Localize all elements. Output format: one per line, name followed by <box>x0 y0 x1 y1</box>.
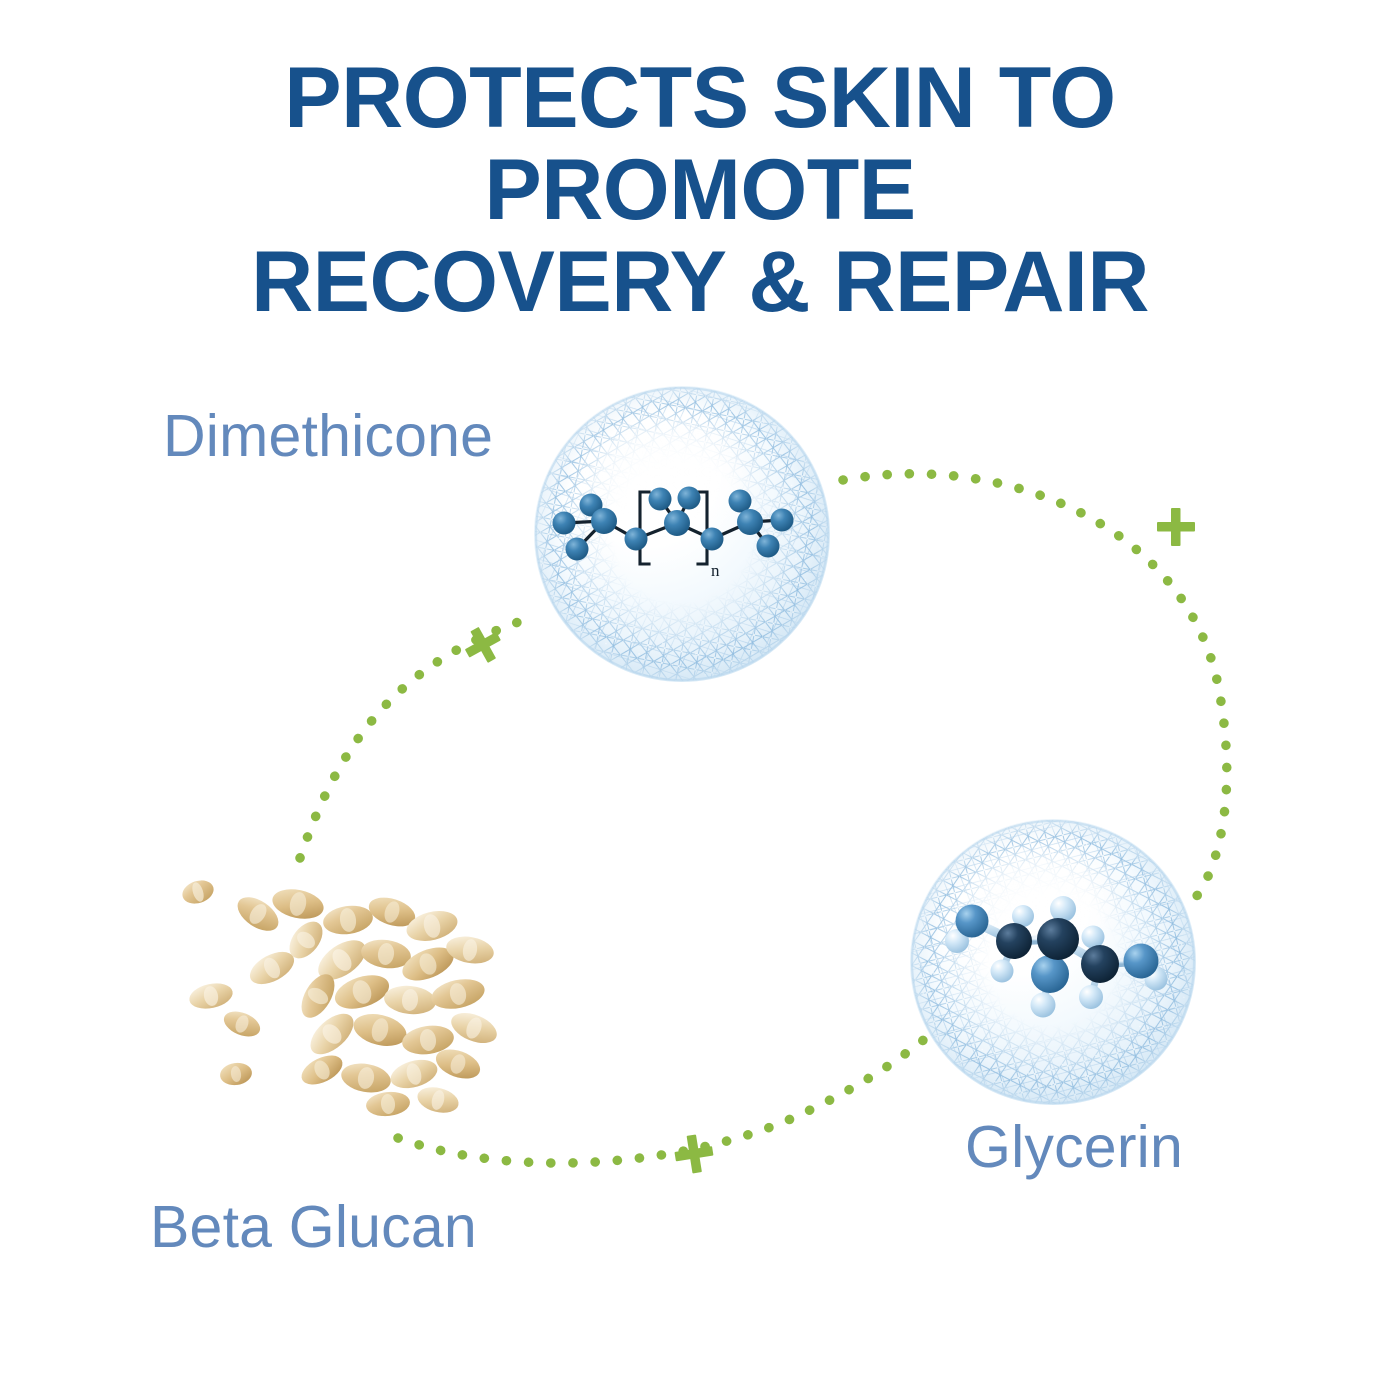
oat-flakes-image <box>170 868 520 1118</box>
glycerin-molecule-icon <box>910 819 1196 1105</box>
dimethicone-molecule-icon: n <box>534 386 830 682</box>
ingredient-label-beta-glucan: Beta Glucan <box>150 1193 477 1261</box>
connector-path-betaglucan-dimethicone <box>300 617 533 858</box>
polymer-subscript-n: n <box>711 561 720 580</box>
plus-icon-dimethicone-glycerin <box>1157 508 1195 546</box>
dimethicone-bubble: n <box>534 386 830 682</box>
ingredient-label-glycerin: Glycerin <box>965 1113 1183 1181</box>
connector-diagram <box>0 0 1400 1400</box>
glycerin-bubble <box>910 819 1196 1105</box>
plus-icon-glycerin-betaglucan <box>674 1134 713 1173</box>
infographic-canvas: PROTECTS SKIN TO PROMOTE RECOVERY & REPA… <box>0 0 1400 1400</box>
ingredient-label-dimethicone: Dimethicone <box>163 402 493 470</box>
